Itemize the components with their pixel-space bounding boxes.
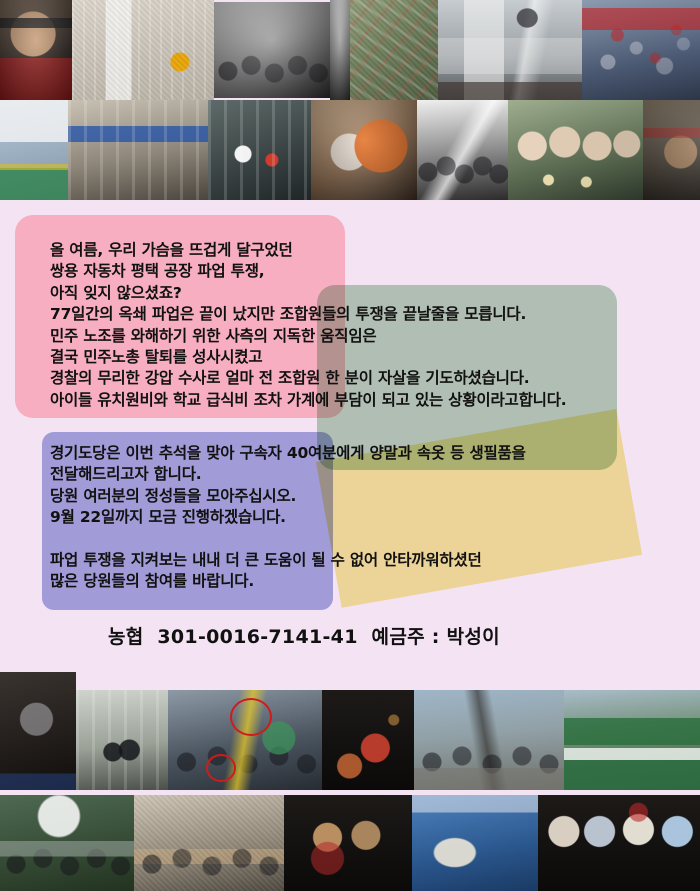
photo-riot-police-crowd — [582, 0, 700, 100]
appeal-paragraph-1: 올 여름, 우리 가슴을 뜨겁게 달구었던 쌍용 자동차 평택 공장 파업 투쟁… — [50, 240, 566, 411]
photo-father-child — [311, 100, 417, 200]
photo-strip-bottom-2 — [0, 795, 700, 891]
photo-strip-bottom-1 — [0, 672, 700, 790]
photo-man-headband — [0, 0, 72, 100]
photo-two-men-night — [284, 795, 412, 891]
photo-meeting-green-room — [0, 795, 134, 891]
photo-flag-tent — [0, 100, 68, 200]
photo-rooftop-police — [76, 690, 168, 790]
photo-green-tent — [564, 690, 700, 790]
photo-priests-bw — [214, 2, 330, 98]
photo-group-four-men — [538, 795, 700, 891]
bank-account-line: 농협 301-0016-7141-41 예금주 : 박성이 — [108, 622, 500, 649]
photo-strip-top-2 — [0, 100, 700, 200]
photo-factory-fence — [72, 0, 214, 100]
photo-meeting-table — [134, 795, 284, 891]
photo-aerial-plant — [350, 0, 438, 100]
appeal-paragraph-2: 경기도당은 이번 추석을 맞아 구속자 40여분에게 양말과 속옷 등 생필품을… — [50, 443, 526, 593]
photo-portrait-bw — [330, 0, 350, 100]
photo-night-lanterns — [322, 690, 414, 790]
photo-annotation-circle — [230, 698, 272, 736]
photo-man-red-bandana — [643, 100, 700, 200]
photo-strip-top-1 — [0, 0, 700, 100]
photo-bus-window — [0, 672, 76, 790]
photo-helicopter-water — [438, 0, 582, 100]
photo-people-candles — [508, 100, 643, 200]
photo-water-cannon-bw — [417, 100, 508, 200]
photo-annotation-circle — [206, 754, 236, 782]
poster-root: 올 여름, 우리 가슴을 뜨겁게 달구었던 쌍용 자동차 평택 공장 파업 투쟁… — [0, 0, 700, 891]
photo-ssangyong-sign — [68, 100, 208, 200]
photo-street-smoke — [414, 690, 564, 790]
photo-workers-tower — [208, 100, 311, 200]
photo-speech-banner — [412, 795, 538, 891]
photo-clash-circled — [168, 690, 322, 790]
